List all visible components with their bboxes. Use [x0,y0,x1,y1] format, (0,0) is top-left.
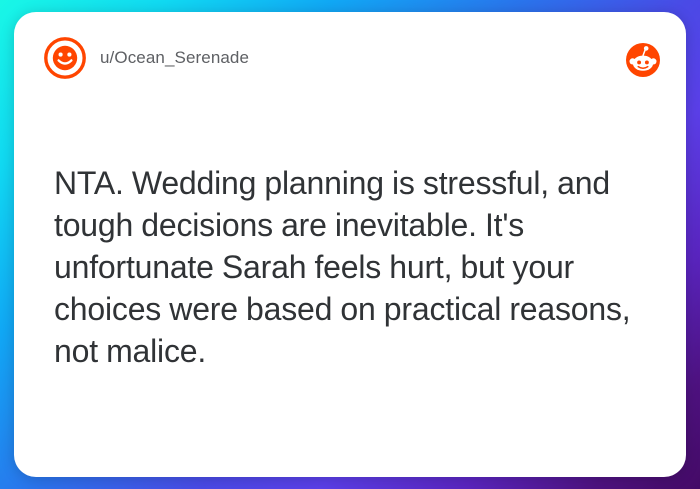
user-info[interactable]: u/Ocean_Serenade [44,37,249,79]
post-body: NTA. Wedding planning is stressful, and … [54,162,654,372]
post-text: NTA. Wedding planning is stressful, and … [54,162,654,372]
post-header: u/Ocean_Serenade [14,12,686,104]
smiley-face-avatar-icon[interactable] [44,37,86,79]
reddit-post-card: u/Ocean_Serenade NTA. Wedding plan [14,12,686,477]
screen-background: u/Ocean_Serenade NTA. Wedding plan [0,0,700,489]
username-label: u/Ocean_Serenade [100,48,249,68]
reddit-snoo-icon[interactable] [626,43,660,77]
